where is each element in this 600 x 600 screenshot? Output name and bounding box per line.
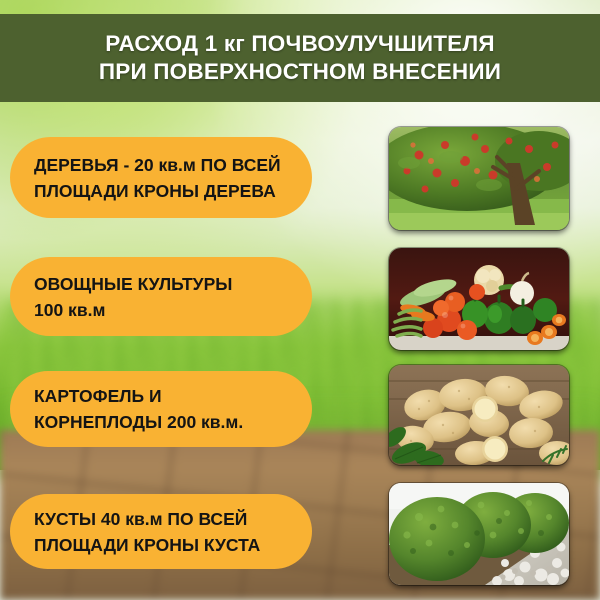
- infographic-poster: РАСХОД 1 кг ПОЧВОУЛУЧШИТЕЛЯ ПРИ ПОВЕРХНО…: [0, 0, 600, 600]
- pill-trees-line-1: ДЕРЕВЬЯ - 20 кв.м ПО ВСЕЙ: [34, 152, 292, 178]
- shrubs-photo-caption: Шаровидные стриженые кусты на гравии: [389, 483, 390, 484]
- potatoes-photo-caption: Клубни картофеля с базиликом: [389, 365, 390, 366]
- apple-tree-photo: Яблоня с плодами: [389, 127, 569, 230]
- pill-vegetables-line-1: ОВОЩНЫЕ КУЛЬТУРЫ: [34, 271, 292, 297]
- pill-shrubs-line-1: КУСТЫ 40 кв.м ПО ВСЕЙ: [34, 506, 292, 532]
- pill-shrubs: КУСТЫ 40 кв.м ПО ВСЕЙ ПЛОЩАДИ КРОНЫ КУСТ…: [10, 494, 312, 569]
- poster-title-banner: РАСХОД 1 кг ПОЧВОУЛУЧШИТЕЛЯ ПРИ ПОВЕРХНО…: [0, 14, 600, 102]
- pill-potatoes: КАРТОФЕЛЬ И КОРНЕПЛОДЫ 200 кв.м.: [10, 371, 312, 447]
- apple-tree-photo-caption: Яблоня с плодами: [389, 127, 390, 128]
- pill-potatoes-line-1: КАРТОФЕЛЬ И: [34, 383, 292, 409]
- poster-title-line-1: РАСХОД 1 кг ПОЧВОУЛУЧШИТЕЛЯ: [105, 30, 494, 58]
- potatoes-photo: Клубни картофеля с базиликом: [389, 365, 569, 465]
- pill-vegetables-line-2: 100 кв.м: [34, 297, 292, 323]
- vegetables-photo-caption: Овощи: томаты, перец, кабачки, цветная к…: [389, 248, 390, 249]
- pill-potatoes-line-2: КОРНЕПЛОДЫ 200 кв.м.: [34, 409, 292, 435]
- shrubs-photo: Шаровидные стриженые кусты на гравии: [389, 483, 569, 585]
- pill-trees-line-2: ПЛОЩАДИ КРОНЫ ДЕРЕВА: [34, 178, 292, 204]
- pill-vegetables: ОВОЩНЫЕ КУЛЬТУРЫ 100 кв.м: [10, 257, 312, 336]
- pill-trees: ДЕРЕВЬЯ - 20 кв.м ПО ВСЕЙ ПЛОЩАДИ КРОНЫ …: [10, 137, 312, 218]
- pill-shrubs-line-2: ПЛОЩАДИ КРОНЫ КУСТА: [34, 532, 292, 558]
- poster-title-line-2: ПРИ ПОВЕРХНОСТНОМ ВНЕСЕНИИ: [99, 58, 501, 86]
- vegetables-photo: Овощи: томаты, перец, кабачки, цветная к…: [389, 248, 569, 350]
